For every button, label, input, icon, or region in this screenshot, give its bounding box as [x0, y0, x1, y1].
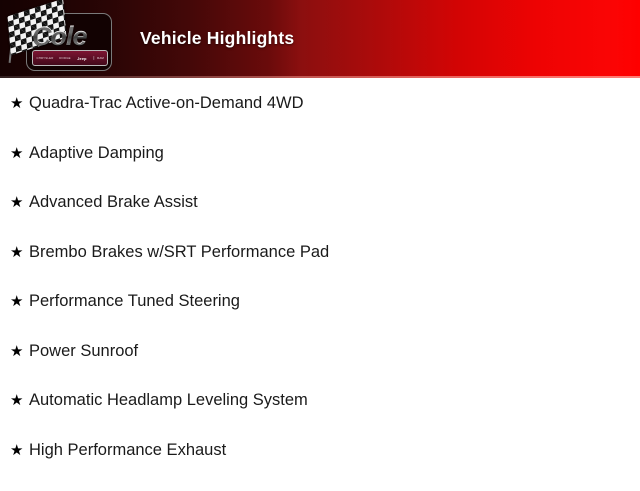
list-item: ★ Automatic Headlamp Leveling System	[0, 392, 640, 442]
list-item: ★ Advanced Brake Assist	[0, 194, 640, 244]
brand-dodge: DODGE	[60, 56, 71, 60]
list-item: ★ Adaptive Damping	[0, 145, 640, 195]
content-area: ★ Quadra-Trac Active-on-Demand 4WD ★ Ada…	[0, 78, 640, 491]
list-item: ★ Quadra-Trac Active-on-Demand 4WD	[0, 95, 640, 145]
star-bullet-icon: ★	[10, 96, 29, 111]
vehicle-highlights-list: ★ Quadra-Trac Active-on-Demand 4WD ★ Ada…	[0, 78, 640, 491]
header-divider	[0, 76, 640, 78]
star-bullet-icon: ★	[10, 294, 29, 309]
highlight-label: Automatic Headlamp Leveling System	[29, 392, 308, 409]
brand-jeep: Jeep	[77, 56, 86, 61]
dealer-logo[interactable]: Cole CHRYSLER DODGE Jeep RAM	[8, 5, 112, 73]
star-bullet-icon: ★	[10, 443, 29, 458]
star-bullet-icon: ★	[10, 344, 29, 359]
highlight-label: Brembo Brakes w/SRT Performance Pad	[29, 244, 329, 261]
list-item: ★ Performance Tuned Steering	[0, 293, 640, 343]
highlight-label: Advanced Brake Assist	[29, 194, 198, 211]
star-bullet-icon: ★	[10, 245, 29, 260]
star-bullet-icon: ★	[10, 195, 29, 210]
page-title: Vehicle Highlights	[140, 28, 294, 49]
star-bullet-icon: ★	[10, 146, 29, 161]
highlight-label: High Performance Exhaust	[29, 442, 226, 459]
highlight-label: Power Sunroof	[29, 343, 138, 360]
brand-chrysler: CHRYSLER	[36, 56, 53, 60]
list-item: ★ High Performance Exhaust	[0, 442, 640, 491]
highlight-label: Performance Tuned Steering	[29, 293, 240, 310]
highlight-label: Quadra-Trac Active-on-Demand 4WD	[29, 95, 303, 112]
brand-ram: RAM	[93, 56, 104, 60]
star-bullet-icon: ★	[10, 393, 29, 408]
logo-brand-bar: CHRYSLER DODGE Jeep RAM	[32, 50, 108, 66]
page-header: Cole CHRYSLER DODGE Jeep RAM Vehicle Hig…	[0, 0, 640, 78]
list-item: ★ Brembo Brakes w/SRT Performance Pad	[0, 244, 640, 294]
highlight-label: Adaptive Damping	[29, 145, 164, 162]
logo-wordmark: Cole	[32, 21, 87, 52]
list-item: ★ Power Sunroof	[0, 343, 640, 393]
